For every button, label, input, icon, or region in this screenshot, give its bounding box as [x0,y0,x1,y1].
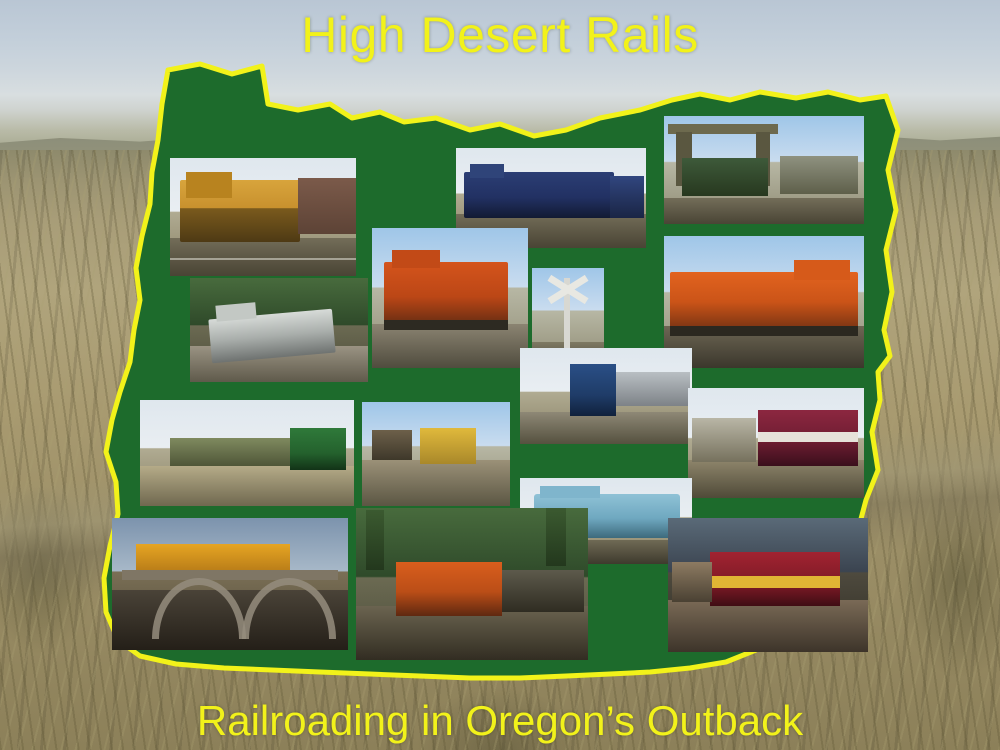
photo-maroon-locomotive-freight [688,388,864,498]
photo-wrecked-locomotive [190,278,368,382]
photo-blue-locomotive-grain-train [520,348,692,444]
photo-idaho-northern-switcher [170,158,356,276]
slide-canvas: High Desert Rails Railroading in Oregon’… [0,0,1000,750]
photo-orange-locomotive-pines [356,508,588,660]
page-subtitle: Railroading in Oregon’s Outback [0,694,1000,748]
photo-hopper-cars-loading [664,116,864,224]
photo-red-locomotive-canyon [668,518,868,652]
photo-orange-locomotive-consist [664,236,864,368]
photo-yellow-locomotive-yard [362,402,510,506]
photo-green-locomotive-desert [140,400,354,506]
photo-orange-road-switcher [372,228,528,368]
photo-trestle-bridge-train [112,518,348,650]
photo-collage [0,0,1000,750]
page-title: High Desert Rails [0,4,1000,66]
